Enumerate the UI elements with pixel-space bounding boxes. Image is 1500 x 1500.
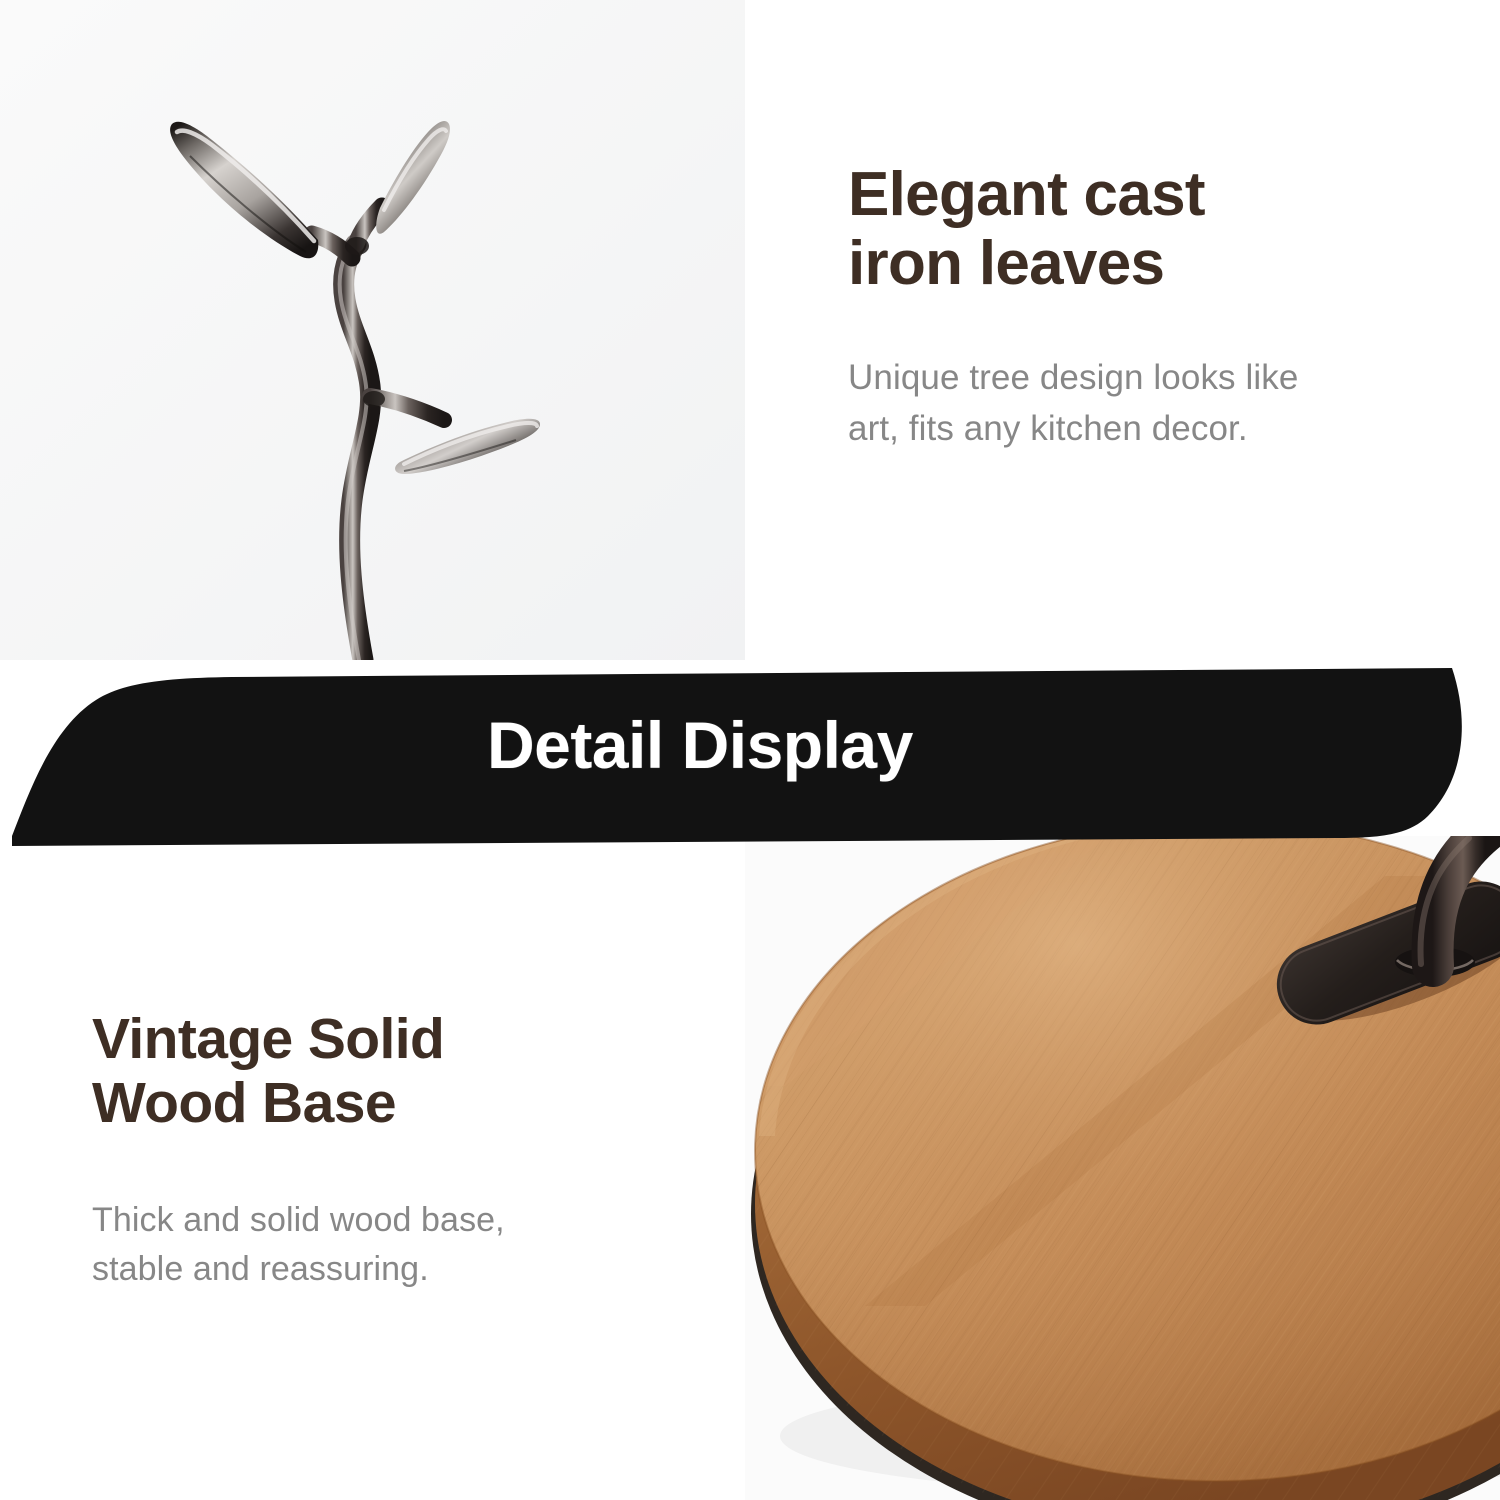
banner-title: Detail Display bbox=[487, 712, 913, 778]
feature-heading-vintage-wood-base: Vintage Solid Wood Base bbox=[92, 1008, 692, 1136]
heading-line-1: Vintage Solid bbox=[92, 1007, 444, 1071]
body-line-1: Unique tree design looks like bbox=[848, 358, 1298, 397]
heading-line-1: Elegant cast bbox=[848, 160, 1205, 229]
body-line-2: stable and reassuring. bbox=[92, 1250, 429, 1288]
heading-line-2: Wood Base bbox=[92, 1071, 396, 1135]
fork-joint-lower bbox=[363, 391, 385, 407]
feature-text-vintage-wood-base: Vintage Solid Wood Base Thick and solid … bbox=[92, 1008, 692, 1294]
feature-text-cast-iron-leaves: Elegant cast iron leaves Unique tree des… bbox=[848, 160, 1448, 454]
cast-iron-tree-photo bbox=[0, 0, 745, 660]
wood-base-photo bbox=[745, 836, 1500, 1500]
feature-heading-cast-iron-leaves: Elegant cast iron leaves bbox=[848, 160, 1448, 299]
fork-joint-upper bbox=[345, 237, 369, 255]
body-line-1: Thick and solid wood base, bbox=[92, 1201, 505, 1239]
feature-body-vintage-wood-base: Thick and solid wood base, stable and re… bbox=[92, 1196, 692, 1295]
banner-label-wrapper: Detail Display bbox=[0, 640, 1500, 850]
body-line-2: art, fits any kitchen decor. bbox=[848, 409, 1248, 448]
infographic-page: Elegant cast iron leaves Unique tree des… bbox=[0, 0, 1500, 1500]
heading-line-2: iron leaves bbox=[848, 229, 1164, 298]
feature-body-cast-iron-leaves: Unique tree design looks like art, fits … bbox=[848, 353, 1448, 455]
